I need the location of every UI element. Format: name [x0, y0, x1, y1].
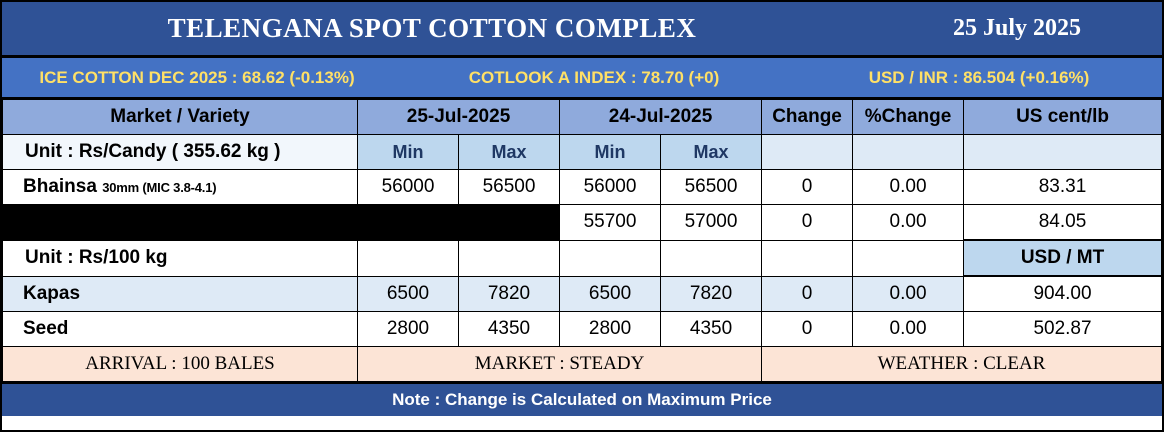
cell-min-prev: 2800	[560, 312, 661, 347]
quote-usd-inr: USD / INR : 86.504 (+0.16%)	[796, 68, 1162, 88]
unit-100kg-blank-1	[358, 240, 459, 276]
cell-converted: 84.05	[964, 205, 1162, 241]
col-header-us-cent-lb: US cent/lb	[964, 100, 1162, 135]
cell-max-today: 7820	[459, 276, 560, 312]
subhead-min-today: Min	[358, 135, 459, 170]
summary-row: ARRIVAL : 100 BALES MARKET : STEADY WEAT…	[3, 347, 1162, 382]
table-column-header-row: Market / Variety 25-Jul-2025 24-Jul-2025…	[3, 100, 1162, 135]
price-table: Market / Variety 25-Jul-2025 24-Jul-2025…	[2, 99, 1162, 382]
cell-converted: 904.00	[964, 276, 1162, 312]
cell-pct-change: 0.00	[853, 312, 964, 347]
unit-100kg-blank-4	[661, 240, 762, 276]
variety-name: Kapas	[23, 283, 80, 304]
cell-min-today: 6500	[358, 276, 459, 312]
col-header-date-today: 25-Jul-2025	[358, 100, 560, 135]
col-header-market: Market / Variety	[3, 100, 358, 135]
col-header-pct-change: %Change	[853, 100, 964, 135]
unit-100kg-row: Unit : Rs/100 kg USD / MT	[3, 240, 1162, 276]
col-header-date-prev: 24-Jul-2025	[560, 100, 762, 135]
unit-label-100kg: Unit : Rs/100 kg	[3, 240, 358, 276]
subhead-converted-blank	[964, 135, 1162, 170]
cell-pct-change: 0.00	[853, 205, 964, 241]
cell-min-prev: 56000	[560, 170, 661, 205]
footer-market: MARKET : STEADY	[358, 347, 762, 382]
row-variety-seed: Seed	[3, 312, 358, 347]
redacted-min-today-cell	[358, 205, 459, 241]
cell-converted: 502.87	[964, 312, 1162, 347]
cell-converted: 83.31	[964, 170, 1162, 205]
table-row: Kapas 6500 7820 6500 7820 0 0.00 904.00	[3, 276, 1162, 312]
unit-100kg-blank-6	[853, 240, 964, 276]
cotton-price-board: TELENGANA SPOT COTTON COMPLEX 25 July 20…	[0, 0, 1164, 432]
note-text: Note : Change is Calculated on Maximum P…	[392, 390, 772, 410]
footer-arrival: ARRIVAL : 100 BALES	[3, 347, 358, 382]
footer-weather: WEATHER : CLEAR	[762, 347, 1162, 382]
cell-max-prev: 57000	[661, 205, 762, 241]
unit-candy-row: Unit : Rs/Candy ( 355.62 kg ) Min Max Mi…	[3, 135, 1162, 170]
table-row: Seed 2800 4350 2800 4350 0 0.00 502.87	[3, 312, 1162, 347]
unit-100kg-blank-5	[762, 240, 853, 276]
subhead-change-blank	[762, 135, 853, 170]
row-variety-kapas: Kapas	[3, 276, 358, 312]
cell-change: 0	[762, 276, 853, 312]
subhead-max-today: Max	[459, 135, 560, 170]
quote-cotlook-index: COTLOOK A INDEX : 78.70 (+0)	[392, 68, 796, 88]
market-quotes-band: ICE COTTON DEC 2025 : 68.62 (-0.13%) COT…	[2, 58, 1162, 99]
cell-pct-change: 0.00	[853, 170, 964, 205]
col-header-change: Change	[762, 100, 853, 135]
title-band: TELENGANA SPOT COTTON COMPLEX 25 July 20…	[2, 2, 1162, 58]
cell-max-today: 56500	[459, 170, 560, 205]
cell-change: 0	[762, 170, 853, 205]
subhead-usd-mt: USD / MT	[964, 240, 1162, 276]
cell-min-prev: 6500	[560, 276, 661, 312]
cell-max-today: 4350	[459, 312, 560, 347]
cell-change: 0	[762, 205, 853, 241]
unit-100kg-blank-3	[560, 240, 661, 276]
variety-name: Seed	[23, 318, 68, 339]
subhead-min-prev: Min	[560, 135, 661, 170]
cell-max-prev: 4350	[661, 312, 762, 347]
cell-max-prev: 7820	[661, 276, 762, 312]
redacted-max-today-cell	[459, 205, 560, 241]
unit-label-candy: Unit : Rs/Candy ( 355.62 kg )	[3, 135, 358, 170]
cell-min-today: 56000	[358, 170, 459, 205]
cell-min-prev: 55700	[560, 205, 661, 241]
subhead-pct-blank	[853, 135, 964, 170]
report-date: 25 July 2025	[872, 15, 1162, 42]
unit-100kg-blank-2	[459, 240, 560, 276]
cell-min-today: 2800	[358, 312, 459, 347]
redacted-variety-cell	[3, 205, 358, 241]
note-band: Note : Change is Calculated on Maximum P…	[2, 382, 1162, 416]
table-row: 55700 57000 0 0.00 84.05	[3, 205, 1162, 241]
cell-change: 0	[762, 312, 853, 347]
table-row: Bhainsa 30mm (MIC 3.8-4.1) 56000 56500 5…	[3, 170, 1162, 205]
quote-ice-cotton: ICE COTTON DEC 2025 : 68.62 (-0.13%)	[2, 68, 392, 88]
variety-spec: 30mm (MIC 3.8-4.1)	[102, 180, 216, 195]
cell-pct-change: 0.00	[853, 276, 964, 312]
row-variety-bhainsa: Bhainsa 30mm (MIC 3.8-4.1)	[3, 170, 358, 205]
subhead-max-prev: Max	[661, 135, 762, 170]
variety-name: Bhainsa	[23, 176, 97, 197]
cell-max-prev: 56500	[661, 170, 762, 205]
